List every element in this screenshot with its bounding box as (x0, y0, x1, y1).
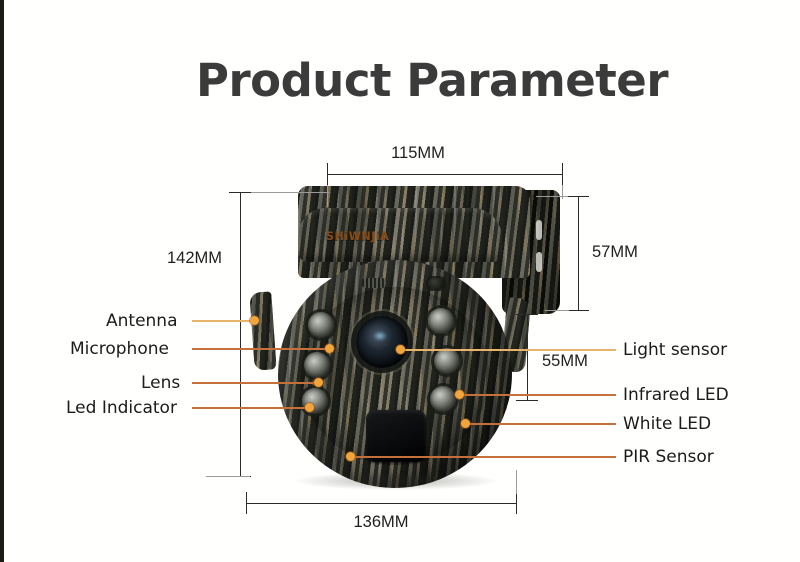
dimension-line-57mm (578, 196, 579, 310)
dimension-tick (567, 310, 589, 311)
led-indicator-left-mid (304, 352, 330, 378)
callout-dot-pir-sensor (346, 452, 355, 461)
dimension-tick (516, 400, 538, 401)
callout-label-led-indicator: Led Indicator (66, 398, 177, 418)
led-infrared-right-top (428, 308, 454, 334)
brand-logo-text: SHiWNJiA (326, 230, 389, 244)
dimension-label-55mm: 55MM (542, 352, 588, 371)
extension-line (327, 185, 328, 207)
callout-dot-lens (314, 378, 323, 387)
pir-sensor (366, 410, 426, 462)
extension-line (536, 196, 568, 197)
drop-shadow (296, 472, 496, 490)
callout-leader-white-led (466, 423, 616, 425)
extension-line (251, 192, 329, 193)
callout-dot-light-sensor (396, 345, 405, 354)
callout-label-light-sensor: Light sensor (623, 340, 727, 360)
left-edge-strip (0, 0, 4, 562)
dimension-line-142mm (240, 192, 241, 476)
extension-line (545, 310, 569, 311)
callout-label-pir-sensor: PIR Sensor (623, 447, 714, 467)
callout-dot-microphone (325, 344, 334, 353)
dimension-line-136mm (246, 503, 516, 504)
dimension-tick (246, 492, 247, 514)
callout-leader-light-sensor (400, 349, 616, 351)
dimension-line-115mm (327, 174, 562, 175)
dimension-label-115mm: 115MM (391, 144, 445, 163)
camera-head-sphere (278, 260, 512, 488)
extension-line (206, 476, 250, 477)
camera-lens (356, 316, 408, 368)
callout-leader-antenna (192, 320, 254, 322)
dimension-label-142mm: 142MM (167, 249, 222, 268)
callout-leader-infrared-led (460, 394, 616, 396)
antenna-left (249, 291, 276, 370)
callout-label-white-led: White LED (623, 414, 711, 434)
callout-dot-infrared-led (455, 390, 464, 399)
dimension-tick (229, 192, 251, 193)
callout-dot-antenna (250, 316, 259, 325)
callout-leader-microphone (192, 348, 330, 350)
dimension-tick (516, 314, 538, 315)
extension-line (516, 470, 517, 494)
callout-leader-lens (192, 382, 319, 384)
bracket-slot (536, 220, 542, 240)
dimension-line-55mm (527, 314, 528, 400)
dimension-tick (327, 163, 328, 185)
led-infrared-left-top (308, 312, 334, 338)
page-title: Product Parameter (196, 54, 668, 107)
callout-label-microphone: Microphone (70, 339, 169, 359)
dimension-tick (516, 492, 517, 514)
dimension-tick (562, 163, 563, 185)
dimension-tick (567, 196, 589, 197)
callout-label-infrared-led: Infrared LED (623, 385, 729, 405)
callout-leader-pir-sensor (350, 456, 616, 458)
microphone-port (362, 278, 386, 288)
product-image-camera: SHiWNJiA (236, 186, 586, 496)
product-parameter-figure: Product Parameter SHiWNJiA 115MM (0, 0, 800, 562)
light-sensor (428, 278, 444, 289)
callout-dot-led-indicator (305, 403, 314, 412)
dimension-label-136mm: 136MM (353, 513, 408, 532)
dimension-label-57mm: 57MM (592, 243, 638, 262)
callout-dot-white-led (461, 419, 470, 428)
led-infrared-right-mid (434, 348, 460, 374)
led-white-right-bottom (430, 386, 456, 412)
callout-label-lens: Lens (141, 373, 180, 393)
callout-label-antenna: Antenna (106, 311, 178, 331)
bracket-slot (536, 252, 542, 272)
callout-leader-led-indicator (192, 407, 310, 409)
